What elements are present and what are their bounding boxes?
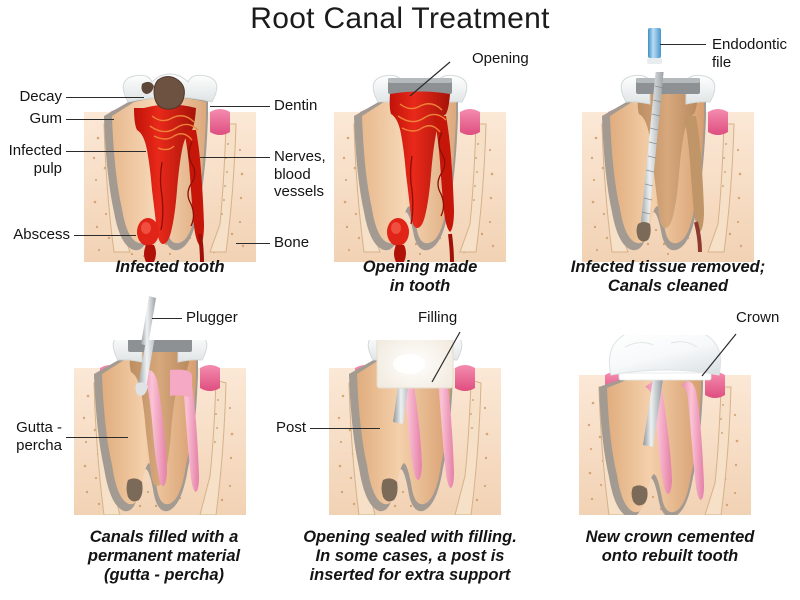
- label-gutta-percha: Gutta - percha: [0, 419, 62, 454]
- leader-filling: [428, 328, 468, 384]
- leader-post: [310, 428, 380, 429]
- label-endodontic-file: Endodontic file: [712, 36, 800, 71]
- caption-panel-4: Canals filled with a permanent material …: [46, 528, 282, 585]
- endodontic-file-handle: [640, 28, 670, 88]
- leader-endodontic-file: [660, 44, 706, 45]
- leader-infected-pulp: [66, 151, 146, 152]
- label-bone: Bone: [274, 234, 334, 252]
- tooth-illustration-cleaned: [578, 72, 758, 262]
- label-decay: Decay: [0, 88, 62, 106]
- leader-abscess: [74, 235, 136, 236]
- caption-panel-3: Infected tissue removed; Canals cleaned: [540, 258, 796, 296]
- panel-opening-made: [330, 72, 510, 262]
- panel-infected-tooth: [80, 72, 260, 262]
- leader-crown: [700, 330, 746, 378]
- label-plugger: Plugger: [186, 309, 266, 327]
- label-gum: Gum: [0, 110, 62, 128]
- leader-decay: [66, 97, 144, 98]
- panel-canals-cleaned: [578, 72, 758, 262]
- caption-panel-2: Opening made in tooth: [320, 258, 520, 296]
- leader-nerves: [200, 157, 270, 158]
- caption-panel-1: Infected tooth: [60, 258, 280, 277]
- panel-canals-filled: [70, 340, 250, 515]
- leader-gum: [66, 119, 114, 120]
- tooth-illustration-filled: [70, 340, 250, 515]
- plugger-shaft: [135, 296, 165, 346]
- label-crown: Crown: [736, 309, 798, 327]
- leader-bone: [236, 243, 270, 244]
- leader-plugger: [152, 318, 182, 319]
- leader-opening: [408, 58, 468, 98]
- label-post: Post: [256, 419, 306, 437]
- root-canal-diagram: Root Canal Treatment: [0, 0, 800, 600]
- label-infected-pulp: Infected pulp: [0, 142, 62, 177]
- leader-dentin: [210, 106, 270, 107]
- leader-gutta-percha: [66, 437, 128, 438]
- caption-panel-5: Opening sealed with filling. In some cas…: [280, 528, 540, 585]
- tooth-illustration-infected: [80, 72, 260, 262]
- caption-panel-6: New crown cemented onto rebuilt tooth: [548, 528, 792, 566]
- label-abscess: Abscess: [0, 226, 70, 244]
- tooth-illustration-opened: [330, 72, 510, 262]
- label-filling: Filling: [418, 309, 498, 327]
- label-opening: Opening: [472, 50, 552, 68]
- page-title: Root Canal Treatment: [0, 2, 800, 36]
